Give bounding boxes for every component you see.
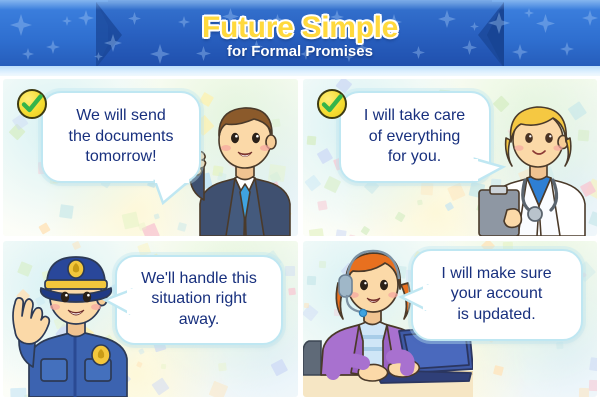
panel-police-officer[interactable]: We'll handle this situation right away. (3, 241, 298, 398)
status-badge-check-2 (317, 89, 347, 119)
quote-text: I will make sure your account is updated… (441, 264, 551, 325)
speech-bubble-tail-icon (395, 283, 429, 311)
quote-text: We'll handle this situation right away. (141, 269, 257, 330)
panel-support-agent[interactable]: I will make sure your account is updated… (303, 241, 598, 398)
page-subtitle: for Formal Promises (227, 44, 373, 59)
panel-grid: We will send the documents tomorrow! (0, 76, 600, 400)
confetti-square (579, 388, 590, 397)
confetti-square (317, 200, 327, 210)
speech-bubble-tail-icon (473, 157, 507, 183)
confetti-square (285, 266, 295, 276)
confetti-square (59, 204, 73, 218)
speech-bubble-support-agent: I will make sure your account is updated… (411, 249, 583, 341)
confetti-square (161, 363, 167, 369)
speech-bubble-businessman: We will send the documents tomorrow! (41, 91, 201, 183)
poster-root: Future Simple for Formal Promises (0, 0, 600, 400)
confetti-square (589, 380, 597, 391)
confetti-square (309, 228, 324, 236)
confetti-square (335, 229, 346, 235)
status-badge-check-1 (17, 89, 47, 119)
speech-bubble-tail-icon (153, 179, 193, 205)
check-icon (21, 93, 43, 115)
confetti-square (289, 288, 296, 295)
quote-text: I will take care of everything for you. (364, 106, 465, 167)
speech-bubble-doctor: I will take care of everything for you. (339, 91, 491, 183)
confetti-square (307, 136, 317, 146)
panel-businessman[interactable]: We will send the documents tomorrow! (3, 79, 298, 236)
header-banner: Future Simple for Formal Promises (0, 0, 600, 72)
header-text-group: Future Simple for Formal Promises (0, 0, 600, 72)
speech-bubble-police-officer: We'll handle this situation right away. (115, 255, 283, 345)
page-title: Future Simple (202, 13, 398, 43)
confetti-square (555, 342, 563, 350)
panel-doctor[interactable]: I will take care of everything for you. (303, 79, 598, 236)
check-icon (321, 93, 343, 115)
quote-text: We will send the documents tomorrow! (69, 106, 174, 167)
speech-bubble-tail-icon (99, 287, 133, 315)
confetti-square (421, 182, 434, 195)
confetti-square (589, 358, 597, 373)
